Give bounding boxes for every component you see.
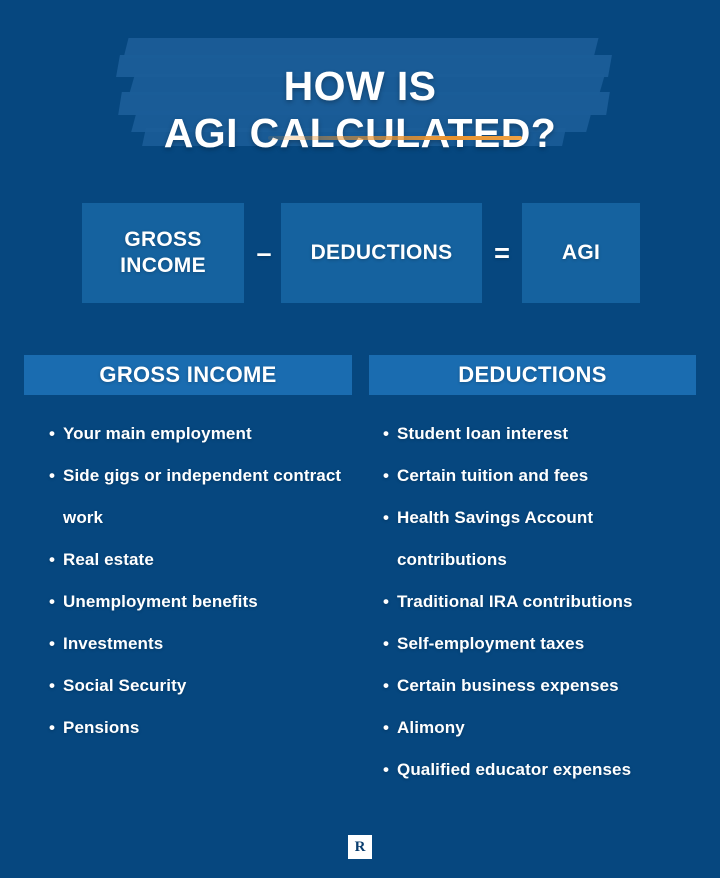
- list-item: •Unemployment benefits: [24, 581, 352, 623]
- page-title-line-1: HOW IS: [284, 63, 437, 109]
- bullet-icon: •: [46, 413, 58, 455]
- page-title-line-2: AGI CALCULATED?: [0, 110, 720, 157]
- bullet-icon: •: [46, 455, 58, 497]
- list-item: •Investments: [24, 623, 352, 665]
- formula-box-deductions: DEDUCTIONS: [281, 203, 482, 303]
- brand-logo-icon: R: [348, 835, 372, 859]
- bullet-icon: •: [46, 581, 58, 623]
- minus-operator: –: [248, 203, 280, 303]
- page-title: HOW IS AGI CALCULATED?: [0, 63, 720, 157]
- list-item-label: Qualified educator expenses: [397, 760, 631, 779]
- formula-gross-income-line-2: INCOME: [120, 254, 206, 277]
- formula-box-gross-income-label: GROSS INCOME: [120, 227, 206, 279]
- bullet-icon: •: [380, 665, 392, 707]
- list-item-label: Certain tuition and fees: [397, 466, 588, 485]
- title-block: HOW IS AGI CALCULATED?: [0, 0, 720, 165]
- list-item: •Student loan interest: [369, 413, 696, 455]
- list-item-label: Alimony: [397, 718, 465, 737]
- list-item-label: Health Savings Account contributions: [397, 508, 593, 569]
- list-item-label: Your main employment: [63, 424, 252, 443]
- bullet-icon: •: [380, 581, 392, 623]
- bullet-icon: •: [46, 623, 58, 665]
- list-item-label: Traditional IRA contributions: [397, 592, 633, 611]
- list-item-label: Real estate: [63, 550, 154, 569]
- list-item: •Certain tuition and fees: [369, 455, 696, 497]
- list-item: •Health Savings Account contributions: [369, 497, 696, 581]
- formula-box-gross-income: GROSS INCOME: [82, 203, 244, 303]
- column-gross-income: GROSS INCOME •Your main employment •Side…: [24, 355, 352, 749]
- list-item: •Pensions: [24, 707, 352, 749]
- bullet-icon: •: [46, 539, 58, 581]
- list-item: •Your main employment: [24, 413, 352, 455]
- bullet-icon: •: [380, 413, 392, 455]
- formula-box-agi: AGI: [522, 203, 640, 303]
- bullet-icon: •: [380, 623, 392, 665]
- list-item: •Traditional IRA contributions: [369, 581, 696, 623]
- list-item-label: Unemployment benefits: [63, 592, 258, 611]
- brand-logo-mark: R: [355, 840, 366, 855]
- equals-operator: =: [484, 203, 520, 303]
- gross-income-list: •Your main employment •Side gigs or inde…: [24, 395, 352, 749]
- list-item-label: Student loan interest: [397, 424, 568, 443]
- bullet-icon: •: [46, 707, 58, 749]
- list-item-label: Pensions: [63, 718, 139, 737]
- bullet-icon: •: [380, 749, 392, 791]
- bullet-icon: •: [46, 665, 58, 707]
- deductions-list: •Student loan interest •Certain tuition …: [369, 395, 696, 791]
- list-item: •Qualified educator expenses: [369, 749, 696, 791]
- list-item: •Real estate: [24, 539, 352, 581]
- column-header-deductions: DEDUCTIONS: [369, 355, 696, 395]
- title-underline-accent: [268, 136, 522, 140]
- list-item: •Social Security: [24, 665, 352, 707]
- bullet-icon: •: [380, 707, 392, 749]
- list-item: •Certain business expenses: [369, 665, 696, 707]
- agi-formula-row: GROSS INCOME – DEDUCTIONS = AGI: [0, 203, 720, 303]
- list-item: •Side gigs or independent contract work: [24, 455, 352, 539]
- bullet-icon: •: [380, 455, 392, 497]
- list-item-label: Social Security: [63, 676, 186, 695]
- column-deductions: DEDUCTIONS •Student loan interest •Certa…: [369, 355, 696, 791]
- list-item-label: Investments: [63, 634, 163, 653]
- list-item: •Self-employment taxes: [369, 623, 696, 665]
- list-item-label: Self-employment taxes: [397, 634, 584, 653]
- column-header-gross-income: GROSS INCOME: [24, 355, 352, 395]
- list-item-label: Side gigs or independent contract work: [63, 466, 341, 527]
- bullet-icon: •: [380, 497, 392, 539]
- list-item-label: Certain business expenses: [397, 676, 619, 695]
- list-item: •Alimony: [369, 707, 696, 749]
- formula-gross-income-line-1: GROSS: [124, 228, 201, 251]
